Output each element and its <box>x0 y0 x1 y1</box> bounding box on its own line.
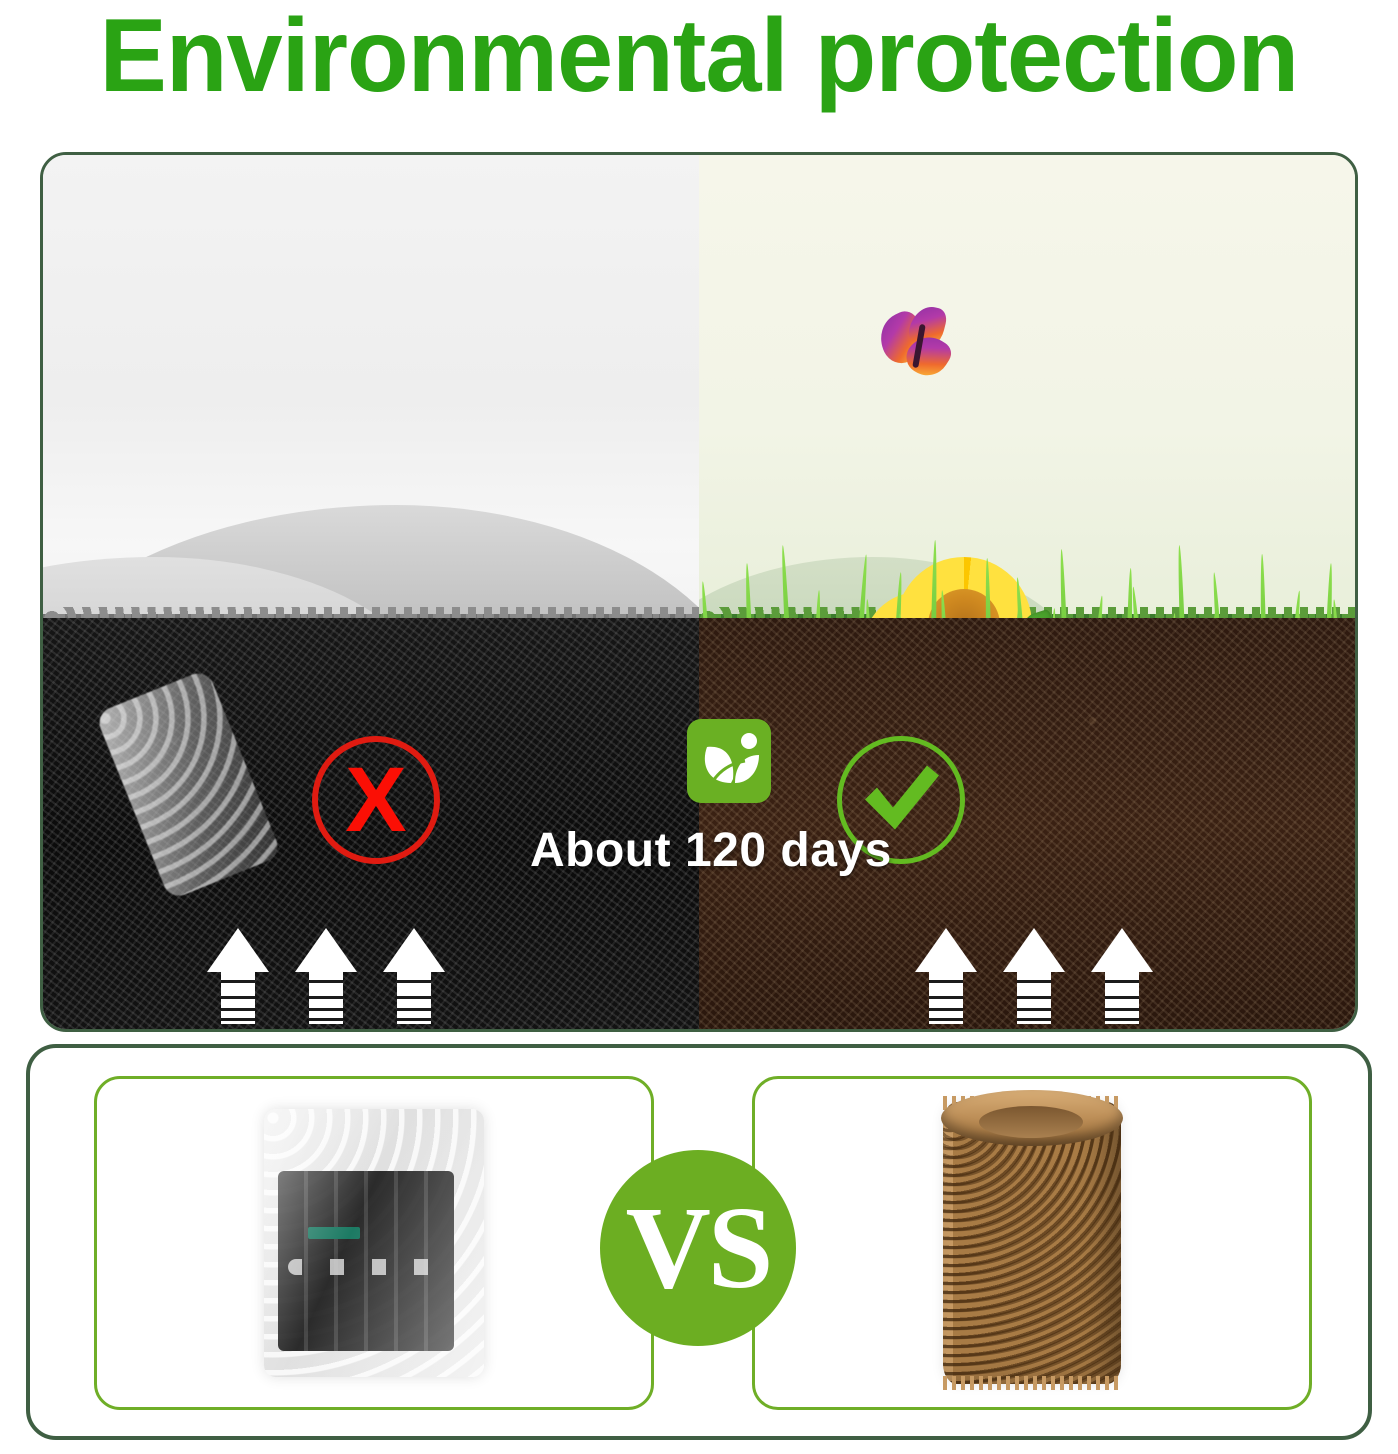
left-up-arrows <box>207 928 445 1024</box>
up-arrow-icon <box>383 928 445 1024</box>
product-card-plastic[interactable] <box>94 1076 654 1410</box>
duration-label: About 120 days <box>530 823 892 878</box>
bubble-wrap-package-image <box>264 1109 484 1377</box>
comparison-left-half: X <box>43 155 699 1029</box>
red-x-circle-icon: X <box>312 736 440 864</box>
up-arrow-icon <box>207 928 269 1024</box>
right-up-arrows <box>915 928 1153 1024</box>
up-arrow-icon <box>295 928 357 1024</box>
up-arrow-icon <box>915 928 977 1024</box>
x-glyph: X <box>318 742 434 858</box>
comparison-right-half <box>699 155 1355 1029</box>
product-card-kraft[interactable] <box>752 1076 1312 1410</box>
page-title: Environmental protection <box>0 0 1398 112</box>
page-title-text: Environmental protection <box>100 4 1299 108</box>
honeycomb-paper-image <box>943 1102 1121 1384</box>
vs-label: VS <box>626 1189 771 1307</box>
leaf-sprout-icon <box>687 719 771 803</box>
vs-badge: VS <box>600 1150 796 1346</box>
comparison-photo-panel: X <box>40 152 1358 1032</box>
up-arrow-icon <box>1091 928 1153 1024</box>
butterfly-icon <box>876 304 968 382</box>
up-arrow-icon <box>1003 928 1065 1024</box>
